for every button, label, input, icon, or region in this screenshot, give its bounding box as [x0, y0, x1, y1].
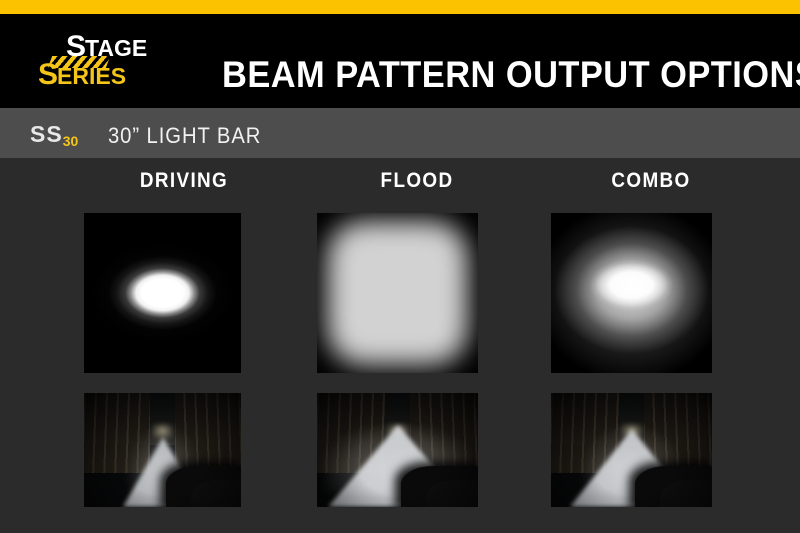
photo-vignette	[551, 393, 712, 507]
column-label-driving: DRIVING	[78, 169, 290, 193]
beam-render-combo	[551, 213, 712, 373]
page-title: BEAM PATTERN OUTPUT OPTIONS	[222, 54, 800, 96]
column-label-combo: COMBO	[545, 169, 757, 193]
logo-line-series: SERIES	[38, 60, 126, 90]
top-accent-bar	[0, 0, 800, 14]
product-subtitle-band: SS30 30” LIGHT BAR	[0, 108, 800, 158]
beam-pattern-flood	[317, 213, 478, 373]
road-photo-driving	[84, 393, 241, 507]
logo-stage-capital: S	[66, 30, 85, 63]
beam-pattern-combo	[551, 213, 712, 373]
logo-series-rest: ERIES	[57, 63, 126, 89]
photo-render-flood	[317, 393, 478, 507]
photo-render-combo	[551, 393, 712, 507]
photo-render-driving	[84, 393, 241, 507]
logo-stage-rest: TAGE	[85, 35, 147, 61]
logo-line-stage: STAGE	[66, 32, 147, 62]
logo-series-capital: S	[38, 58, 57, 91]
header-bar: STAGE SERIES BEAM PATTERN OUTPUT OPTIONS	[0, 14, 800, 108]
ss-badge-number: 30	[63, 133, 79, 149]
road-photo-flood	[317, 393, 478, 507]
photo-vignette	[317, 393, 478, 507]
beam-render-flood	[317, 213, 478, 373]
beam-pattern-driving	[84, 213, 241, 373]
stage-series-logo: STAGE SERIES	[28, 30, 188, 94]
column-label-flood: FLOOD	[311, 169, 523, 193]
ss-badge-prefix: SS	[30, 121, 63, 147]
ss30-badge: SS30	[30, 121, 78, 148]
beam-render-driving	[84, 213, 241, 373]
product-subtitle-text: 30” LIGHT BAR	[108, 123, 261, 149]
road-photo-combo	[551, 393, 712, 507]
beam-comparison-grid: DRIVING FLOOD	[0, 158, 800, 533]
photo-vignette	[84, 393, 241, 507]
